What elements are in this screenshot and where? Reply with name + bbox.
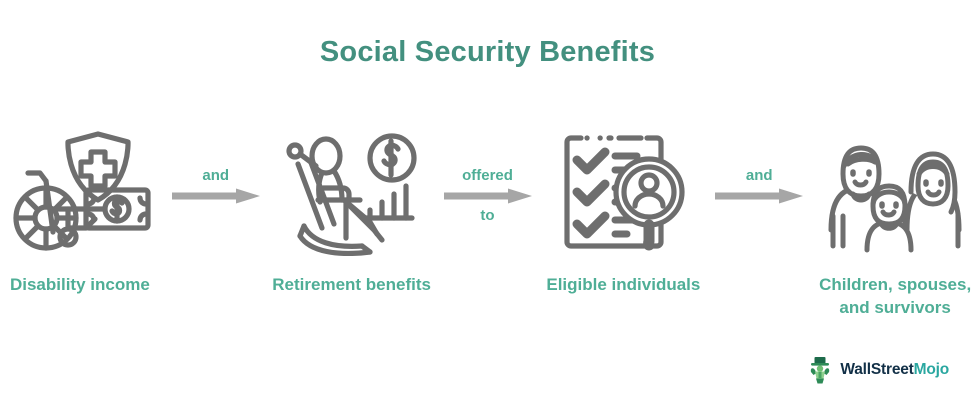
- flow-node-retirement-benefits: Retirement benefits: [272, 128, 432, 297]
- wallstreetmojo-logo[interactable]: WallStreetMojo: [807, 356, 949, 384]
- rocking-chair-coin-chart-icon: [278, 128, 426, 258]
- connector-label-top: and: [746, 167, 773, 185]
- checklist-magnifier-person-icon: [549, 128, 697, 258]
- flow-node-eligible-individuals: Eligible individuals: [544, 128, 704, 297]
- flow-node-label: Retirement benefits: [272, 274, 431, 297]
- logo-wordmark-primary: WallStreet: [840, 361, 913, 378]
- connector-label-bottom: to: [480, 207, 494, 225]
- flow-node-label: Eligible individuals: [546, 274, 700, 297]
- wheelchair-shield-money-icon: [6, 128, 154, 258]
- arrow-right-icon: [172, 188, 260, 204]
- flow-node-children-spouses-survivors: Children, spouses, and survivors: [815, 128, 975, 320]
- arrow-right-icon: [444, 188, 532, 204]
- flow-diagram: Disability income and: [0, 128, 975, 338]
- arrow-right-icon: [715, 188, 803, 204]
- page-title: Social Security Benefits: [0, 36, 975, 69]
- flow-connector-3: and: [703, 128, 815, 258]
- flow-node-label: Disability income: [10, 274, 150, 297]
- logo-wordmark-accent: Mojo: [914, 361, 949, 378]
- flow-node-disability-income: Disability income: [0, 128, 160, 297]
- flow-connector-1: and: [160, 128, 272, 258]
- flow-node-label: Children, spouses, and survivors: [819, 274, 971, 320]
- connector-label-top: and: [202, 167, 229, 185]
- infographic-canvas: Social Security Benefits: [0, 0, 975, 402]
- family-group-icon: [821, 128, 969, 258]
- wallstreetmojo-mascot-icon: [807, 356, 833, 384]
- flow-connector-2: offered to: [432, 128, 544, 258]
- connector-label-top: offered: [462, 167, 513, 185]
- logo-wordmark: WallStreetMojo: [840, 361, 949, 379]
